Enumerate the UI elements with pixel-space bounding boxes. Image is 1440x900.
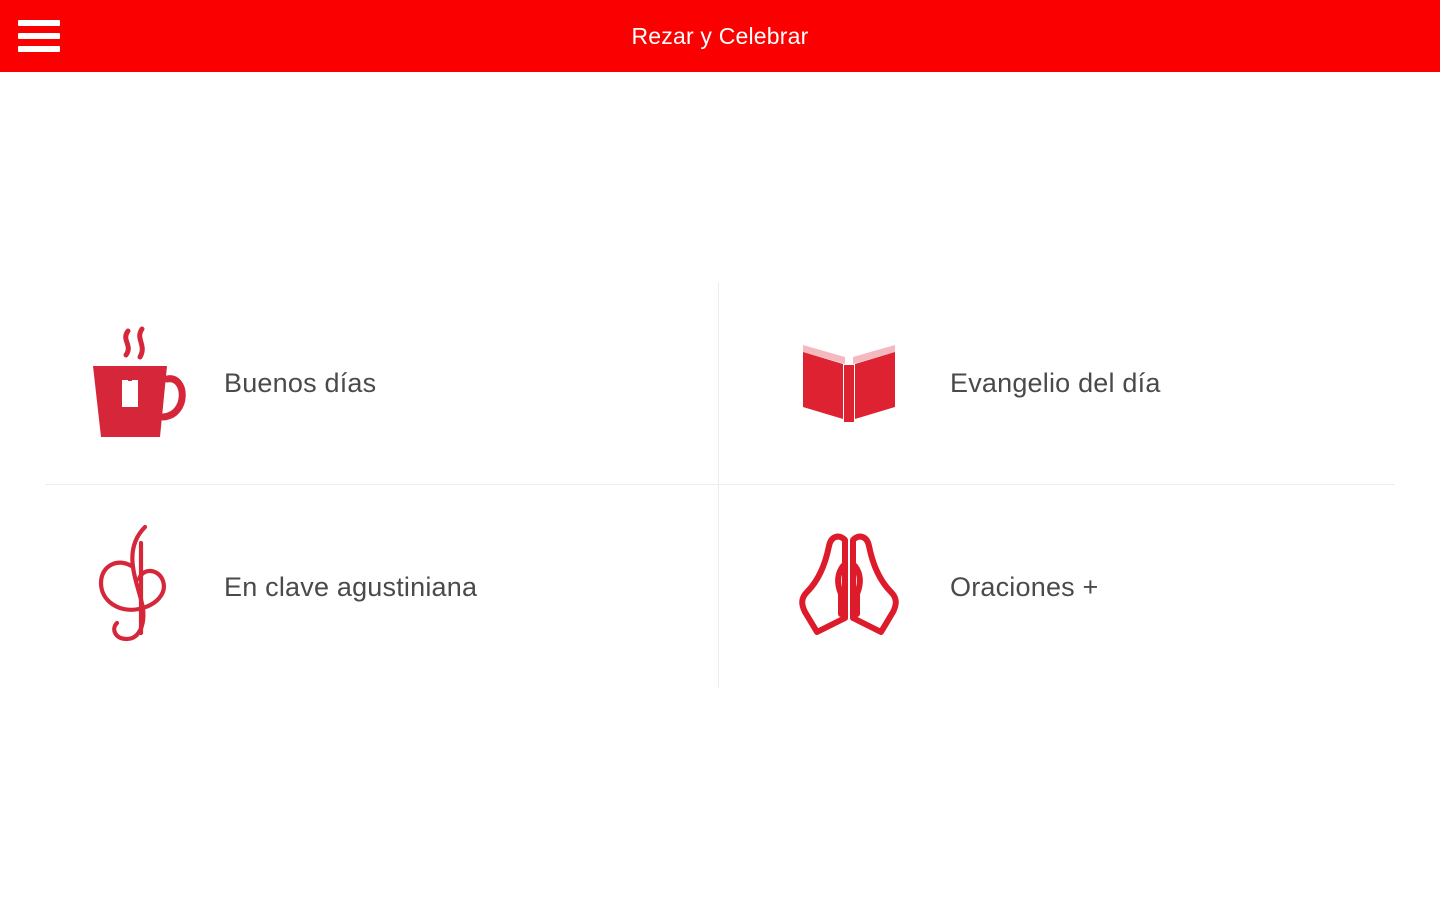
hamburger-bar-bottom [18,46,60,52]
hamburger-bar-top [18,20,60,26]
menu-item-label: Oraciones + [950,572,1099,603]
main-content: Buenos días [0,72,1440,900]
menu-item-oraciones[interactable]: Oraciones + [719,486,1437,688]
page-title: Rezar y Celebrar [0,0,1440,72]
menu-item-buenos-dias[interactable]: Buenos días [0,282,718,484]
horizontal-divider [45,484,1395,485]
praying-hands-icon [774,512,924,662]
menu-item-label: En clave agustiniana [224,572,477,603]
menu-item-evangelio-del-dia[interactable]: Evangelio del día [719,282,1437,484]
menu-grid: Buenos días [0,282,1440,688]
menu-item-en-clave-agustiniana[interactable]: En clave agustiniana [0,486,718,688]
coffee-cup-icon [60,308,210,458]
app-root: Rezar y Celebrar [0,0,1440,900]
open-book-icon [774,308,924,458]
app-header-bar: Rezar y Celebrar [0,0,1440,72]
menu-item-label: Evangelio del día [950,368,1161,399]
hamburger-menu-icon[interactable] [10,12,68,60]
menu-item-label: Buenos días [224,368,376,399]
hamburger-bar-middle [18,33,60,39]
treble-clef-icon [60,512,210,662]
